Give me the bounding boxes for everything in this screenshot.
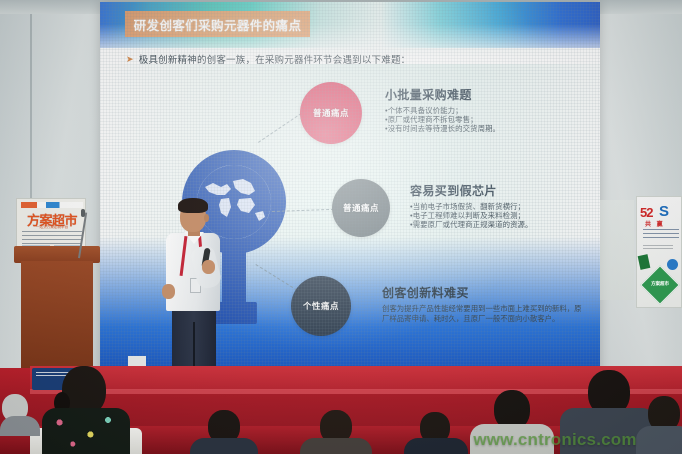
pain-point-node-1: 普通痛点 — [300, 82, 362, 144]
block-2-list: 当前电子市场假货、翻新货横行； 电子工程师难以判断及来料检测； 需要原厂或代理商… — [410, 202, 600, 230]
podium-body — [21, 261, 93, 373]
block-3-heading: 创客创新料难买 — [382, 284, 582, 301]
poster-subtitle: 一站式方案定制平台 — [17, 225, 86, 230]
audience-member-4 — [404, 408, 468, 454]
banner-cn-line: 共 赢 — [645, 219, 665, 228]
block-2-bullet-2: 电子工程师难以判断及来料检测； — [410, 211, 600, 220]
slide-subtitle-text: 极具创新精神的创客一族，在采购元器件环节会遇到以下难题： — [139, 52, 411, 66]
audience-member-1 — [40, 366, 130, 454]
audience-member-far-left — [0, 394, 40, 432]
audience-body — [404, 438, 468, 454]
slide-subtitle-row: ➤ 极具创新精神的创客一族，在采购元器件环节会遇到以下难题： — [126, 52, 546, 66]
speaker-hair — [178, 198, 208, 213]
audience-member-5 — [470, 390, 554, 454]
pain-point-block-2: 容易买到假芯片 当前电子市场假货、翻新货横行； 电子工程师难以判断及来料检测； … — [410, 182, 600, 230]
block-1-list: 个体不具备议价能力； 原厂或代理商不拆包零售； 没有时间去等待漫长的交货周期。 — [385, 106, 585, 134]
node-2-label: 普通痛点 — [343, 202, 379, 214]
speaker-leg-split — [193, 322, 195, 372]
block-1-bullet-3: 没有时间去等待漫长的交货周期。 — [385, 124, 585, 133]
audience-body — [636, 426, 682, 454]
audience-body — [470, 424, 554, 454]
audience-body — [42, 408, 130, 454]
speaker-figure — [160, 198, 232, 380]
banner-body-text — [643, 229, 679, 241]
speaker-ear — [204, 214, 209, 222]
pain-point-node-2: 普通痛点 — [332, 179, 390, 237]
photo-scene: 研发创客们采购元器件的痛点 ➤ 极具创新精神的创客一族，在采购元器件环节会遇到以… — [0, 0, 682, 454]
audience-member-3 — [300, 408, 372, 454]
pain-point-block-1: 小批量采购难题 个体不具备议价能力； 原厂或代理商不拆包零售； 没有时间去等待漫… — [385, 86, 585, 134]
block-1-heading: 小批量采购难题 — [385, 86, 585, 103]
speaker-hand-right — [202, 260, 215, 274]
pain-point-node-3: 个性痛点 — [291, 276, 351, 336]
pain-point-block-3: 创客创新料难买 创客为提升产品性能经常要用到一些市面上难买到的新料，原厂样品寄申… — [382, 284, 582, 323]
audience-body — [300, 438, 372, 454]
audience-member-2 — [190, 410, 258, 454]
banner-letter: S — [659, 203, 669, 220]
banner-footer-text — [643, 245, 673, 251]
node-3-label: 个性痛点 — [303, 300, 339, 312]
speaker-hand-left — [162, 284, 175, 299]
block-1-bullet-2: 原厂或代理商不拆包零售； — [385, 115, 585, 124]
podium — [14, 246, 100, 372]
right-banner: 52 S 共 赢 方案超市 — [636, 196, 682, 308]
block-3-paragraph: 创客为提升产品性能经常要用到一些市面上难买到的新料，原厂样品寄申请、耗时久，且原… — [382, 304, 582, 323]
block-1-bullet-1: 个体不具备议价能力； — [385, 106, 585, 115]
arrow-right-icon: ➤ — [126, 54, 134, 65]
node-1-label: 普通痛点 — [313, 107, 349, 119]
poster-body-text — [22, 231, 82, 244]
banner-number: 52 — [640, 205, 652, 220]
microphone-icon — [81, 209, 85, 217]
block-2-bullet-1: 当前电子市场假货、翻新货横行； — [410, 202, 600, 211]
slide-title: 研发创客们采购元器件的痛点 — [125, 11, 310, 37]
banner-blue-dot — [667, 259, 678, 270]
right-banner-secondary — [600, 200, 634, 300]
sponsor-logo — [21, 202, 83, 208]
audience-body — [0, 416, 40, 436]
block-2-heading: 容易买到假芯片 — [410, 182, 600, 199]
banner-diamond-label: 方案超市 — [647, 281, 673, 287]
block-2-bullet-3: 需要原厂或代理商正规渠道的资源。 — [410, 220, 600, 229]
audience-member-7 — [636, 396, 682, 454]
audience-body — [190, 438, 258, 454]
banner-green-shape — [638, 254, 651, 270]
